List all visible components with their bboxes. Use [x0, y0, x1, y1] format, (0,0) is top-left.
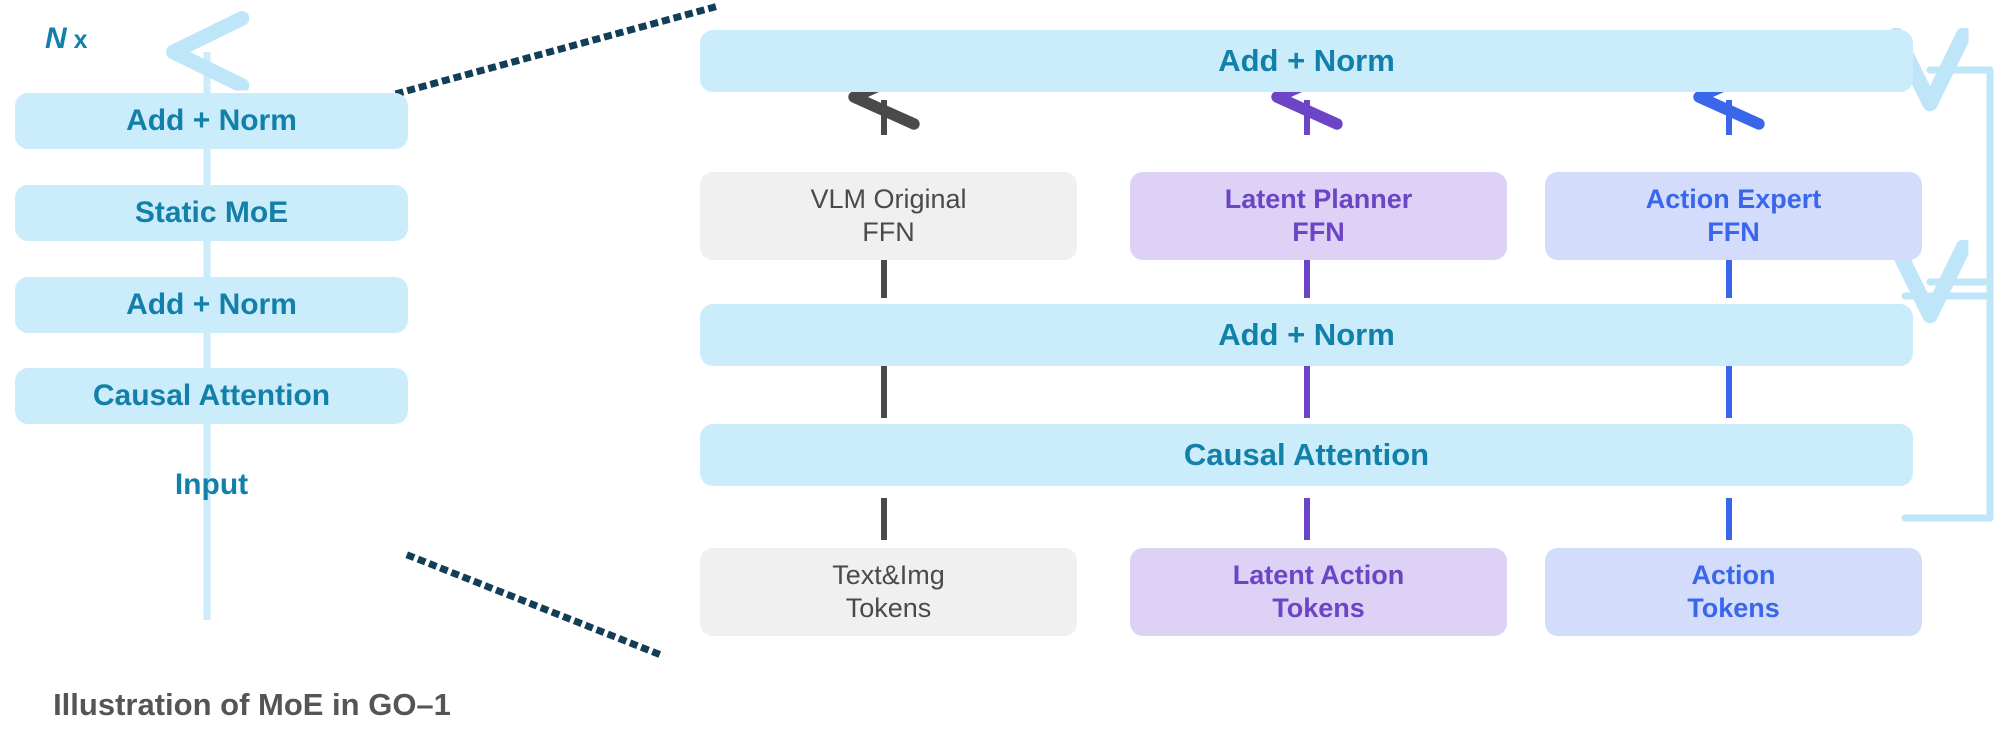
ffn-latent-planner-label: Latent Planner FFN — [1225, 183, 1413, 249]
residual-path-lower — [1905, 282, 1990, 518]
right-mid-add-norm[interactable]: Add + Norm — [700, 304, 1913, 366]
right-causal-attention[interactable]: Causal Attention — [700, 424, 1913, 486]
left-block-add-norm-top[interactable]: Add + Norm — [15, 93, 408, 149]
ffn-latent-planner[interactable]: Latent Planner FFN — [1130, 172, 1507, 260]
tokens-latent-action[interactable]: Latent Action Tokens — [1130, 548, 1507, 636]
ffn-action-expert[interactable]: Action Expert FFN — [1545, 172, 1922, 260]
diagram-canvas: N x Add + Norm Static MoE Add + Norm Cau… — [0, 0, 2014, 748]
zoom-connector-lines — [399, 5, 722, 657]
tokens-text-img[interactable]: Text&Img Tokens — [700, 548, 1077, 636]
repeat-count-label: N x — [45, 22, 88, 56]
ffn-vlm-original[interactable]: VLM Original FFN — [700, 172, 1077, 260]
left-block-static-moe[interactable]: Static MoE — [15, 185, 408, 241]
ffn-action-expert-label: Action Expert FFN — [1646, 183, 1822, 249]
repeat-count-value: N — [45, 22, 67, 55]
tokens-text-img-label: Text&Img Tokens — [832, 559, 945, 625]
right-top-add-norm-label: Add + Norm — [1218, 42, 1395, 80]
tokens-latent-action-label: Latent Action Tokens — [1233, 559, 1405, 625]
right-causal-attention-label: Causal Attention — [1184, 436, 1429, 474]
left-block-label: Causal Attention — [93, 378, 330, 415]
left-block-label: Add + Norm — [126, 287, 297, 324]
input-label: Input — [15, 468, 408, 502]
left-block-label: Static MoE — [135, 195, 288, 232]
ffn-vlm-original-label: VLM Original FFN — [810, 183, 966, 249]
right-top-add-norm[interactable]: Add + Norm — [700, 30, 1913, 92]
figure-caption: Illustration of MoE in GO–1 — [0, 687, 1259, 723]
right-mid-add-norm-label: Add + Norm — [1218, 316, 1395, 354]
left-block-label: Add + Norm — [126, 103, 297, 140]
left-block-causal-attention[interactable]: Causal Attention — [15, 368, 408, 424]
repeat-count-suffix: x — [67, 26, 88, 54]
tokens-action[interactable]: Action Tokens — [1545, 548, 1922, 636]
tokens-action-label: Action Tokens — [1687, 559, 1780, 625]
left-block-add-norm-bottom[interactable]: Add + Norm — [15, 277, 408, 333]
